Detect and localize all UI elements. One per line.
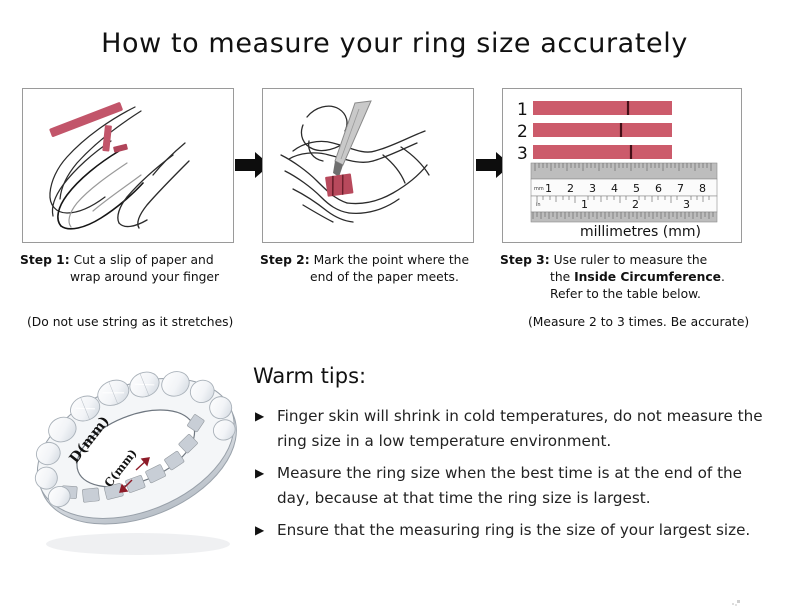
tip-item-3: ▶ Ensure that the measuring ring is the … (253, 518, 773, 543)
triangle-bullet-icon: ▶ (255, 461, 264, 486)
svg-text:8: 8 (699, 182, 706, 195)
svg-text:6: 6 (655, 182, 662, 195)
paper-strip-red-on-finger (325, 173, 354, 196)
strip-label-1: 1 (517, 100, 528, 120)
step-1-caption: Step 1: Cut a slip of paper and wrap aro… (20, 252, 250, 286)
step-1-text-line-1: Cut a slip of paper and (74, 253, 214, 267)
warm-tips-heading: Warm tips: (253, 364, 773, 388)
svg-text:mm: mm (534, 186, 544, 192)
step-3-line-2-prefix: the (550, 270, 574, 284)
svg-text:in: in (536, 202, 541, 208)
step-panel-3: 1 2 3 (502, 88, 742, 243)
svg-text:1: 1 (581, 198, 588, 211)
tip-item-1-text: Finger skin will shrink in cold temperat… (277, 407, 763, 450)
corner-artifact (732, 592, 740, 599)
step-3-text-line-3: Refer to the table below. (500, 286, 780, 303)
ruler-unit-caption: millimetres (mm) (580, 224, 701, 240)
step-3-label: Step 3: (500, 253, 550, 267)
step-1-text-line-2: wrap around your finger (20, 269, 250, 286)
step-2-text-line-2: end of the paper meets. (260, 269, 495, 286)
tip-item-3-text: Ensure that the measuring ring is the si… (277, 521, 750, 539)
svg-text:3: 3 (683, 198, 690, 211)
hand-with-paper-strip-icon (23, 89, 233, 242)
svg-text:4: 4 (611, 182, 618, 195)
step-3-text-line-1: Use ruler to measure the (554, 253, 708, 267)
step-3-line-2-suffix: . (721, 270, 725, 284)
tip-item-2-text: Measure the ring size when the best time… (277, 464, 742, 507)
step-3-caption: Step 3: Use ruler to measure the the Ins… (500, 252, 780, 303)
steps-row: 1 2 3 (0, 88, 789, 253)
svg-text:2: 2 (567, 182, 574, 195)
svg-text:1: 1 (545, 182, 552, 195)
tip-item-1: ▶ Finger skin will shrink in cold temper… (253, 404, 773, 454)
step-2-caption: Step 2: Mark the point where the end of … (260, 252, 495, 286)
ruler-icon: mm 1 2 3 4 5 6 7 8 in 1 2 3 (531, 163, 717, 222)
step-3-text-line-2: the Inside Circumference. (500, 269, 780, 286)
paper-strip-2 (533, 123, 672, 137)
hand-marking-pen-icon (263, 89, 473, 242)
svg-text:5: 5 (633, 182, 640, 195)
paper-strip-3 (533, 145, 672, 159)
step-3-inside-circumference-emphasis: Inside Circumference (574, 270, 721, 284)
svg-text:7: 7 (677, 182, 684, 195)
ruler-with-paper-strips-icon: 1 2 3 (503, 89, 741, 242)
step-panel-2 (262, 88, 474, 243)
strip-label-2: 2 (517, 122, 528, 142)
step-2-text-line-1: Mark the point where the (314, 253, 469, 267)
paper-strip-1 (533, 101, 672, 115)
strip-label-3: 3 (517, 144, 528, 164)
triangle-bullet-icon: ▶ (255, 518, 264, 543)
step-panel-1 (22, 88, 234, 243)
page-title: How to measure your ring size accurately (0, 28, 789, 59)
ring-diagram: D(mm) C(mm) (18, 352, 258, 567)
triangle-bullet-icon: ▶ (255, 404, 264, 429)
step-1-label: Step 1: (20, 253, 70, 267)
step-3-note: (Measure 2 to 3 times. Be accurate) (528, 315, 749, 329)
svg-text:2: 2 (632, 198, 639, 211)
step-2-label: Step 2: (260, 253, 310, 267)
step-1-note: (Do not use string as it stretches) (27, 315, 233, 329)
tip-item-2: ▶ Measure the ring size when the best ti… (253, 461, 773, 511)
svg-text:3: 3 (589, 182, 596, 195)
warm-tips-section: Warm tips: ▶ Finger skin will shrink in … (253, 364, 773, 550)
